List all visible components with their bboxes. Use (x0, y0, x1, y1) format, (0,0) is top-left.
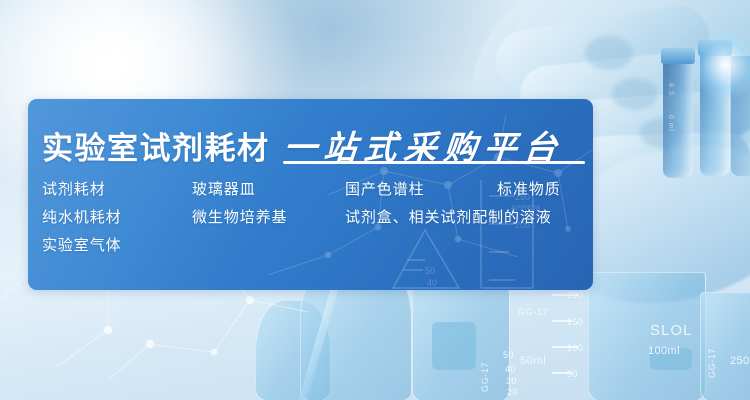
category-item[interactable]: 玻璃器皿 (192, 178, 256, 199)
category-item[interactable]: 国产色谱柱 (345, 178, 425, 199)
glove-knuckle (585, 36, 633, 70)
flask-tick-label: 30 (506, 376, 517, 386)
category-list: 试剂耗材 玻璃器皿 国产色谱柱 标准物质 纯水机耗材 微生物培养基 试剂盒、相关… (42, 178, 582, 262)
brand-label: SLOL (650, 322, 692, 339)
headline-panel: 250APPROX 200 5040 实验室试剂耗材 一站式采购平台 试剂耗材 … (28, 99, 593, 290)
volume-label: 50ml (520, 355, 546, 367)
gg17-label: GG-17 (707, 348, 717, 378)
beaker-label-patch (432, 322, 476, 370)
tube-glow (690, 30, 750, 100)
category-item[interactable]: 试剂耗材 (42, 178, 106, 199)
glove-knuckle (612, 78, 658, 110)
volume-label: 100ml (648, 345, 680, 357)
gg17-label: GG-17 (480, 362, 490, 392)
category-row: 纯水机耗材 微生物培养基 试剂盒、相关试剂配制的溶液 (42, 206, 582, 234)
beaker (700, 292, 750, 400)
category-row: 试剂耗材 玻璃器皿 国产色谱柱 标准物质 (42, 178, 582, 206)
flask-tick-label: 50 (503, 350, 514, 360)
category-row: 实验室气体 (42, 234, 582, 262)
graduation-label: 250 (730, 355, 750, 367)
flask-tick-label: 20 (507, 387, 518, 397)
category-item[interactable]: 试剂盒、相关试剂配制的溶液 (345, 206, 552, 227)
gg17-label: GG-17 (518, 307, 548, 317)
promo-banner: 8.5 0 ml 250 APPROX 200 150 100 50 GG-17… (0, 0, 750, 400)
graduation-label: 100 (567, 343, 583, 353)
tube-volume-label: 8.5 (667, 83, 674, 96)
graduation-label: 150 (567, 317, 583, 327)
headline-underline (283, 161, 585, 164)
category-item[interactable]: 微生物培养基 (192, 206, 287, 227)
tube-volume-label: 0 ml (667, 115, 674, 132)
category-item[interactable]: 纯水机耗材 (42, 206, 122, 227)
category-item[interactable]: 标准物质 (497, 178, 561, 199)
category-item[interactable]: 实验室气体 (42, 234, 122, 255)
graduation-label: 50 (567, 369, 578, 379)
headline-main: 实验室试剂耗材 (42, 123, 270, 168)
flask-tick-label: 40 (505, 364, 516, 374)
graduation-label: 200 (567, 290, 583, 300)
